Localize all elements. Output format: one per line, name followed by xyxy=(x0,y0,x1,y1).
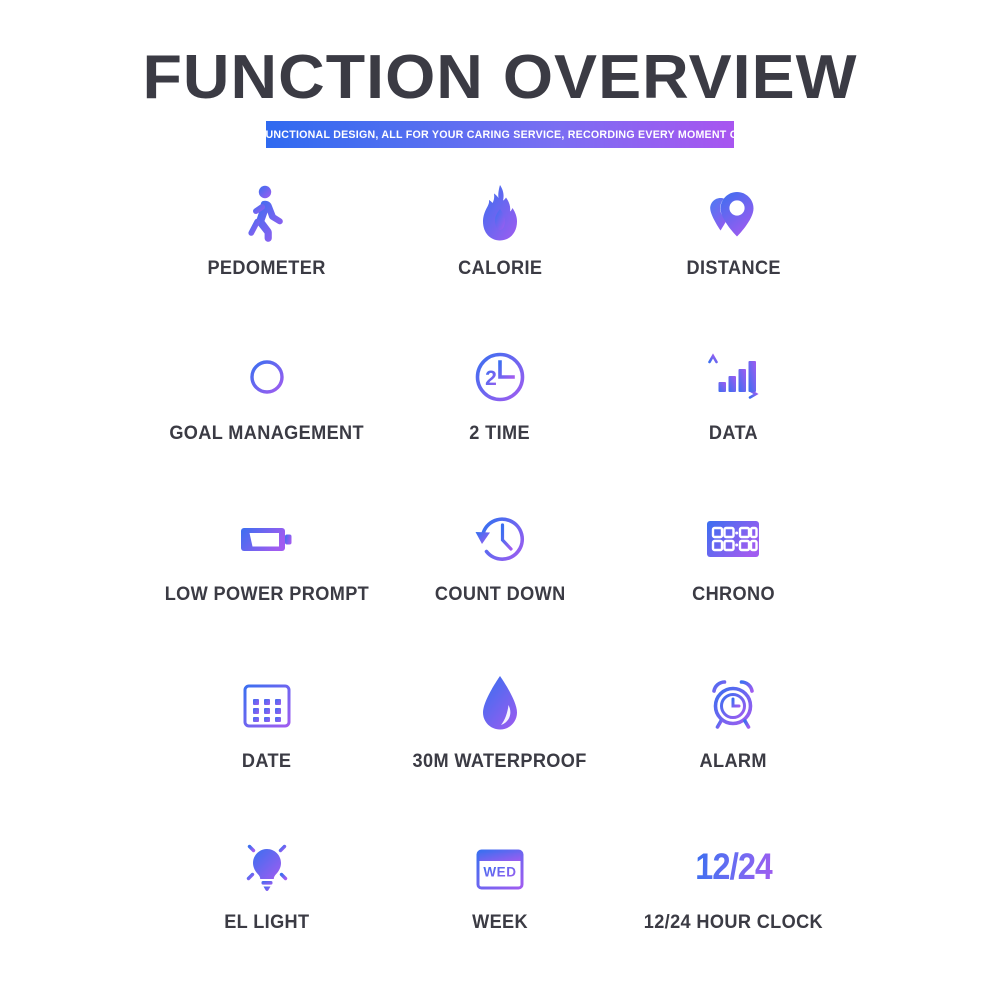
hour-clock-glyph: 12/24 xyxy=(694,848,772,885)
feature-item-week[interactable]: WED WEEK xyxy=(383,830,616,993)
feature-label: GOAL MANAGEMENT xyxy=(169,422,364,445)
digital-display-icon xyxy=(704,504,762,574)
feature-label: DISTANCE xyxy=(686,257,780,280)
countdown-clock-icon xyxy=(470,504,530,574)
feature-item-el-light[interactable]: EL LIGHT xyxy=(150,830,383,993)
feature-item-30m-waterproof[interactable]: 30M WATERPROOF xyxy=(383,667,616,830)
twelve-twentyfour-icon: 12/24 xyxy=(690,830,778,902)
feature-label: DATE xyxy=(242,750,292,773)
feature-item-pedometer[interactable]: PEDOMETER xyxy=(150,178,383,341)
flame-icon xyxy=(475,178,525,248)
feature-label: LOW POWER PROMPT xyxy=(164,583,368,606)
feature-item-distance[interactable]: DISTANCE xyxy=(617,178,850,341)
feature-label: EL LIGHT xyxy=(224,911,309,934)
feature-label: COUNT DOWN xyxy=(435,583,566,606)
feature-item-low-power-prompt[interactable]: LOW POWER PROMPT xyxy=(150,504,383,667)
feature-label: DATA xyxy=(709,422,758,445)
svg-text:WED: WED xyxy=(483,865,516,880)
feature-item-count-down[interactable]: COUNT DOWN xyxy=(383,504,616,667)
bar-chart-icon xyxy=(704,341,762,413)
feature-item-date[interactable]: DATE xyxy=(150,667,383,830)
feature-label: 30M WATERPROOF xyxy=(413,750,587,773)
feature-item-calorie[interactable]: CALORIE xyxy=(383,178,616,341)
dual-time-clock-icon: 2 xyxy=(471,341,529,413)
weekday-calendar-icon: WED xyxy=(472,830,528,902)
feature-grid: PEDOMETER CALORIE xyxy=(150,178,850,993)
alarm-clock-icon xyxy=(704,667,762,741)
running-person-icon xyxy=(236,178,298,248)
battery-icon xyxy=(237,504,297,574)
target-crosshair-icon xyxy=(237,341,297,413)
feature-label: CALORIE xyxy=(458,257,542,280)
function-overview-page: FUNCTION OVERVIEW EACH FUNCTIONAL DESIGN… xyxy=(0,0,1000,1000)
subtitle-banner: EACH FUNCTIONAL DESIGN, ALL FOR YOUR CAR… xyxy=(266,121,734,148)
svg-text:2: 2 xyxy=(485,367,497,390)
lightbulb-icon xyxy=(237,830,297,902)
feature-label: 12/24 HOUR CLOCK xyxy=(644,911,823,934)
feature-label: WEEK xyxy=(472,911,528,934)
feature-label: CHRONO xyxy=(692,583,775,606)
feature-item-2-time[interactable]: 2 2 TIME xyxy=(383,341,616,504)
subtitle-banner-wrap: EACH FUNCTIONAL DESIGN, ALL FOR YOUR CAR… xyxy=(0,121,1000,148)
subtitle-text: EACH FUNCTIONAL DESIGN, ALL FOR YOUR CAR… xyxy=(225,129,776,141)
feature-item-12-24-hour-clock[interactable]: 12/24 12/24 HOUR CLOCK xyxy=(617,830,850,993)
feature-item-data[interactable]: DATA xyxy=(617,341,850,504)
page-header: FUNCTION OVERVIEW EACH FUNCTIONAL DESIGN… xyxy=(0,0,1000,148)
map-pin-icon xyxy=(702,178,764,248)
feature-label: ALARM xyxy=(700,750,767,773)
feature-label: PEDOMETER xyxy=(208,257,326,280)
page-title: FUNCTION OVERVIEW xyxy=(0,46,1000,109)
water-droplet-icon xyxy=(478,667,522,741)
calendar-grid-icon xyxy=(239,667,295,741)
feature-item-chrono[interactable]: CHRONO xyxy=(617,504,850,667)
feature-item-goal-management[interactable]: GOAL MANAGEMENT xyxy=(150,341,383,504)
feature-label: 2 TIME xyxy=(470,422,531,445)
feature-item-alarm[interactable]: ALARM xyxy=(617,667,850,830)
